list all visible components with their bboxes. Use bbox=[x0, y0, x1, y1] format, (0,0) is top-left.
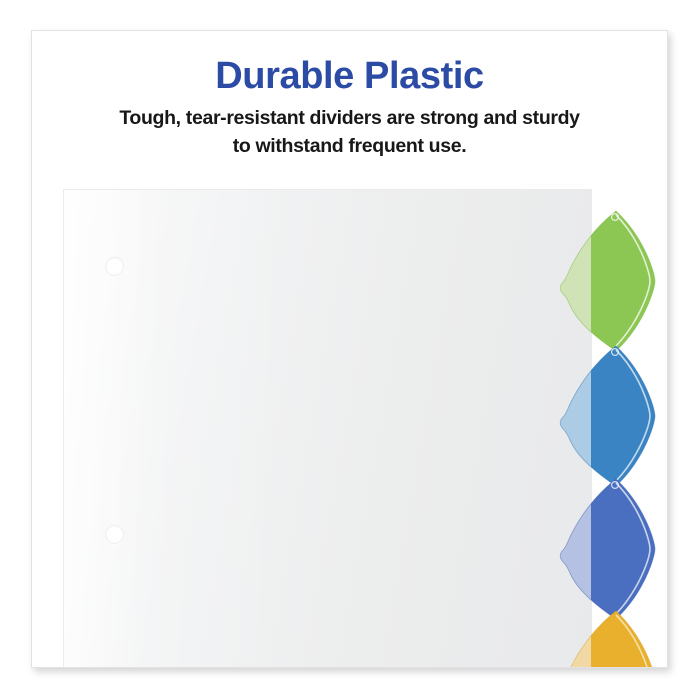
subtitle-text: Tough, tear-resistant dividers are stron… bbox=[32, 105, 667, 160]
subtitle-line-1: Tough, tear-resistant dividers are stron… bbox=[119, 107, 579, 129]
product-card-frame: Durable Plastic Tough, tear-resistant di… bbox=[31, 30, 668, 668]
bottom-punch-hole bbox=[105, 525, 124, 544]
top-punch-hole bbox=[105, 257, 124, 276]
product-image-canvas: Durable Plastic Tough, tear-resistant di… bbox=[0, 0, 700, 700]
page-title: Durable Plastic bbox=[32, 57, 667, 97]
plastic-divider-sheet bbox=[63, 189, 592, 668]
subtitle-line-2: to withstand frequent use. bbox=[32, 133, 667, 161]
